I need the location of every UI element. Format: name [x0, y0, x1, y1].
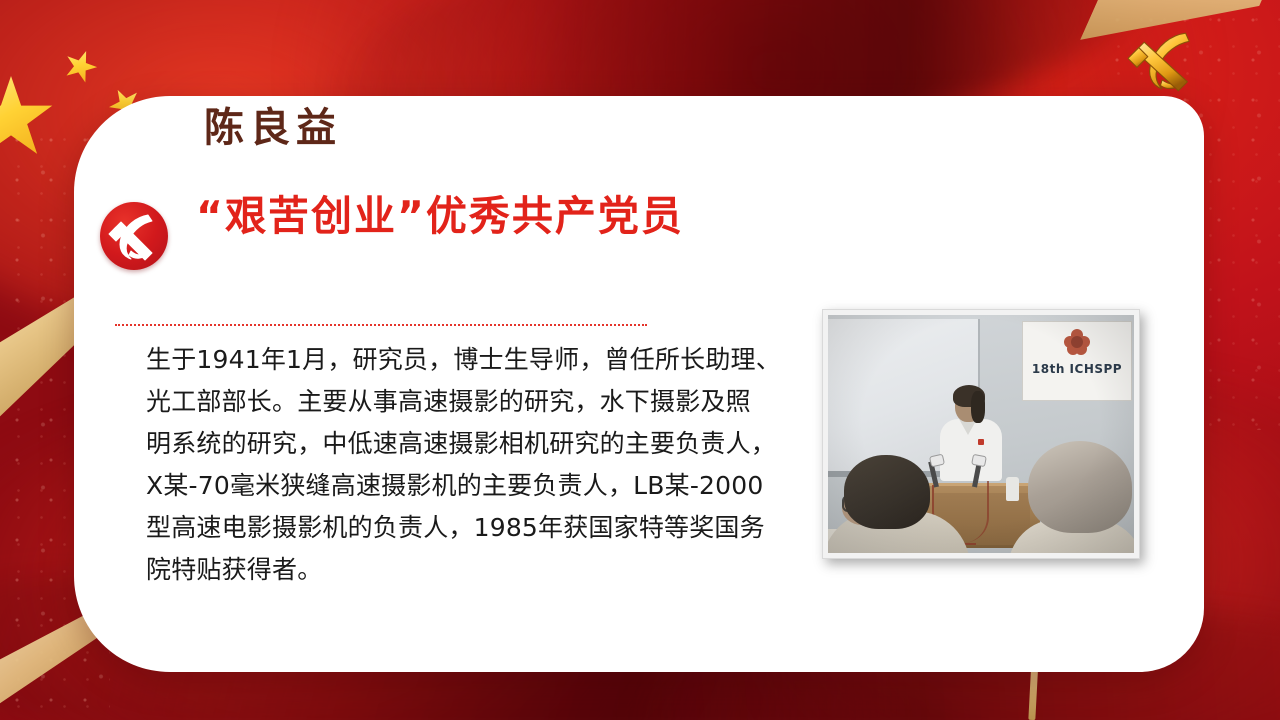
hammer-sickle-gold-icon [1118, 26, 1210, 98]
biography-line: 明系统的研究，中低速高速摄影相机研究的主要负责人， [146, 423, 846, 465]
five-pointed-star-icon [59, 45, 101, 87]
biography-line: 生于1941年1月，研究员，博士生导师，曾任所长助理、 [146, 339, 846, 381]
hammer-sickle-icon [100, 202, 168, 270]
slide-root: “艰苦创业”优秀共产党员 陈良益 生于1941年1月，研究员，博士生导师，曾任所… [0, 0, 1280, 720]
person-name: 陈良益 [204, 102, 1204, 154]
biography-line: 光工部部长。主要从事高速摄影的研究，水下摄影及照 [146, 381, 846, 423]
photo-frame: 18th ICHSPP [822, 309, 1140, 559]
photo-vignette [828, 315, 1134, 553]
title-text-wrap: “艰苦创业”优秀共产党员 [196, 194, 684, 240]
biography-line: X某-70毫米狭缝高速摄影机的主要负责人，LB某-2000 [146, 465, 846, 507]
biography-text: 生于1941年1月，研究员，博士生导师，曾任所长助理、 光工部部长。主要从事高速… [146, 339, 846, 591]
conference-photo: 18th ICHSPP [828, 315, 1134, 553]
page-title: “艰苦创业”优秀共产党员 [196, 194, 684, 240]
dotted-divider [115, 324, 647, 326]
biography-line: 院特贴获得者。 [146, 549, 846, 591]
five-pointed-star-icon [0, 76, 54, 162]
title-block: “艰苦创业”优秀共产党员 [100, 194, 740, 270]
biography-line: 型高速电影摄影机的负责人，1985年获国家特等奖国务 [146, 507, 846, 549]
content-card: “艰苦创业”优秀共产党员 陈良益 生于1941年1月，研究员，博士生导师，曾任所… [74, 96, 1204, 672]
